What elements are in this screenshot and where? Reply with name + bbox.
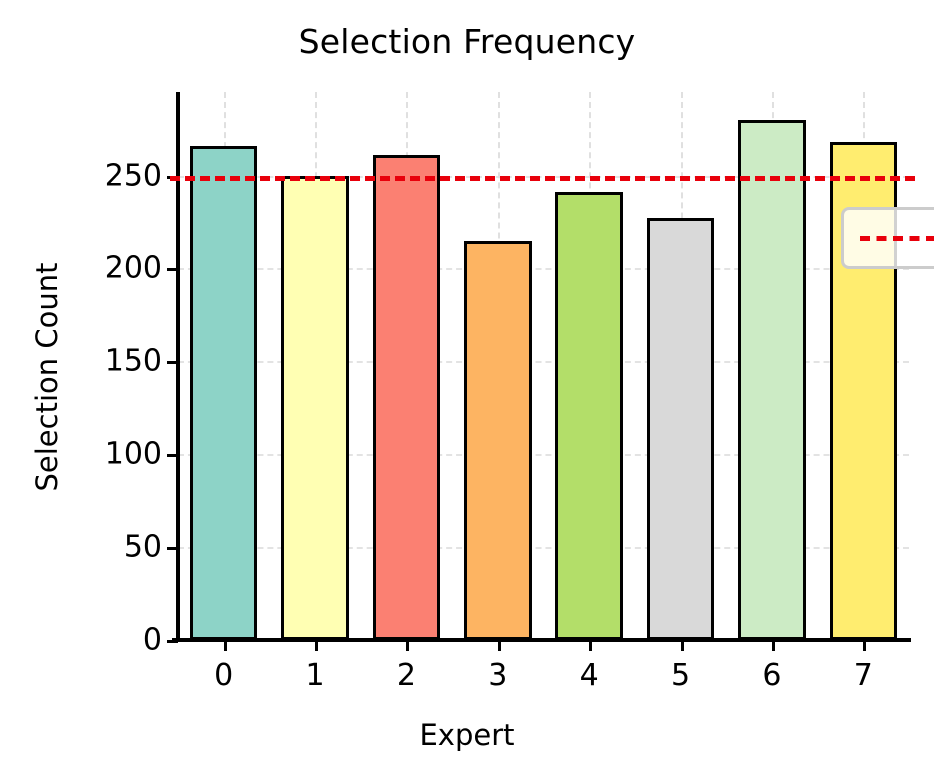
- x-axis-tick-label: 1: [306, 658, 325, 693]
- x-axis-tick-label: 7: [854, 658, 873, 693]
- bar-expert-0[interactable]: [190, 146, 258, 640]
- bar-expert-5[interactable]: [647, 218, 715, 640]
- y-axis-tick: [167, 454, 178, 457]
- x-axis-tick-label: 4: [580, 658, 599, 693]
- x-axis-tick: [315, 640, 318, 651]
- legend-mean-line-icon: [860, 236, 934, 241]
- y-axis-tick: [167, 268, 178, 271]
- x-axis-tick: [406, 640, 409, 651]
- y-axis-tick-label: 150: [105, 344, 162, 379]
- y-axis-tick-label: 100: [105, 437, 162, 472]
- x-axis-label: Expert: [0, 718, 934, 752]
- plot-canvas: [178, 92, 909, 640]
- x-axis-tick: [498, 640, 501, 651]
- y-axis-label: Selection Count: [30, 212, 64, 542]
- y-axis-tick: [167, 547, 178, 550]
- x-axis-tick-label: 6: [762, 658, 781, 693]
- y-axis-tick-label: 50: [124, 530, 162, 565]
- legend[interactable]: Mean: [841, 207, 934, 269]
- y-axis-tick-labels: 050100150200250: [80, 92, 162, 640]
- bar-expert-3[interactable]: [464, 241, 532, 640]
- bar-expert-6[interactable]: [738, 120, 806, 640]
- y-axis-tick-label: 250: [105, 158, 162, 193]
- y-axis-tick: [167, 361, 178, 364]
- bar-expert-2[interactable]: [373, 155, 441, 640]
- y-axis-spine: [176, 92, 180, 640]
- bar-expert-1[interactable]: [281, 176, 349, 640]
- y-axis-tick: [167, 640, 178, 643]
- x-axis-tick-label: 2: [397, 658, 416, 693]
- plot-area: Mean 01234567: [178, 92, 909, 640]
- bar-expert-4[interactable]: [555, 192, 623, 640]
- page-title: Selection Frequency: [0, 22, 934, 61]
- x-axis-tick: [589, 640, 592, 651]
- x-axis-tick-label: 5: [671, 658, 690, 693]
- x-axis-tick-label: 3: [488, 658, 507, 693]
- y-axis-tick-label: 0: [143, 623, 162, 658]
- x-axis-tick-label: 0: [214, 658, 233, 693]
- mean-reference-line: [170, 176, 915, 181]
- x-axis-spine: [172, 638, 911, 642]
- chart-figure: Selection Frequency Selection Count Expe…: [0, 0, 934, 784]
- x-axis-tick: [772, 640, 775, 651]
- y-axis-tick-label: 200: [105, 251, 162, 286]
- x-axis-tick: [863, 640, 866, 651]
- x-axis-tick: [224, 640, 227, 651]
- x-axis-tick: [681, 640, 684, 651]
